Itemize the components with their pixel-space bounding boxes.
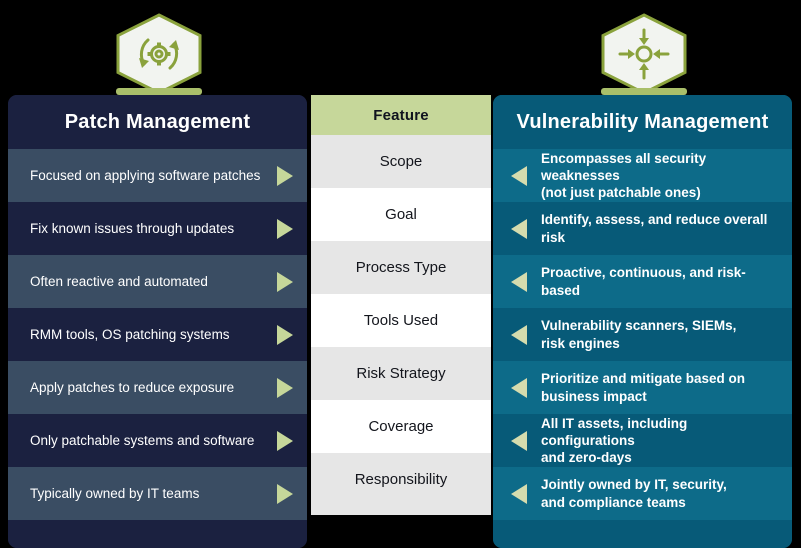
vulnerability-row-text: Vulnerability scanners, SIEMs,risk engin… — [541, 317, 736, 352]
target-arrows-icon — [597, 12, 691, 96]
vulnerability-management-column: Vulnerability Management Encompasses all… — [493, 95, 792, 548]
vulnerability-rows-container: Encompasses all security weaknesses(not … — [493, 149, 792, 520]
feature-row: Process Type — [311, 241, 491, 294]
arrow-left-icon — [511, 484, 527, 504]
feature-row: Responsibility — [311, 453, 491, 506]
arrow-left-icon — [511, 272, 527, 292]
feature-row: Scope — [311, 135, 491, 188]
arrow-left-icon — [511, 378, 527, 398]
feature-row: Coverage — [311, 400, 491, 453]
badge-connector-left — [116, 88, 202, 95]
feature-row: Risk Strategy — [311, 347, 491, 400]
patch-row-text: Often reactive and automated — [30, 273, 218, 291]
feature-row: Goal — [311, 188, 491, 241]
vulnerability-row: Vulnerability scanners, SIEMs,risk engin… — [493, 308, 792, 361]
patch-column-footer — [8, 520, 307, 548]
vulnerability-column-footer — [493, 520, 792, 548]
arrow-left-icon — [511, 431, 527, 451]
vulnerability-row: All IT assets, including configurationsa… — [493, 414, 792, 467]
vulnerability-row-text: Prioritize and mitigate based onbusiness… — [541, 370, 745, 405]
patch-management-column: Patch Management Focused on applying sof… — [8, 95, 307, 548]
feature-header: Feature — [311, 95, 491, 135]
patch-row: Apply patches to reduce exposure — [8, 361, 307, 414]
arrow-right-icon — [277, 325, 293, 345]
vulnerability-row-text: Proactive, continuous, and risk-based — [541, 264, 778, 299]
feature-row-label: Risk Strategy — [356, 365, 445, 382]
feature-row-label: Responsibility — [355, 471, 448, 488]
vulnerability-row: Encompasses all security weaknesses(not … — [493, 149, 792, 202]
arrow-right-icon — [277, 272, 293, 292]
feature-row-label: Scope — [380, 153, 423, 170]
patch-row-text: Apply patches to reduce exposure — [30, 379, 244, 397]
vulnerability-row-text: Identify, assess, and reduce overall ris… — [541, 211, 778, 246]
arrow-left-icon — [511, 166, 527, 186]
vulnerability-row-text: Encompasses all security weaknesses(not … — [541, 150, 778, 202]
patch-row: Typically owned by IT teams — [8, 467, 307, 520]
feature-row: Tools Used — [311, 294, 491, 347]
feature-column-footer — [311, 506, 491, 515]
vulnerability-row: Proactive, continuous, and risk-based — [493, 255, 792, 308]
patch-management-header: Patch Management — [8, 95, 307, 149]
arrow-left-icon — [511, 325, 527, 345]
badge-vulnerability-management — [597, 12, 691, 96]
feature-rows-container: ScopeGoalProcess TypeTools UsedRisk Stra… — [311, 135, 491, 506]
gear-refresh-icon — [112, 12, 206, 96]
patch-rows-container: Focused on applying software patchesFix … — [8, 149, 307, 520]
vulnerability-row: Prioritize and mitigate based onbusiness… — [493, 361, 792, 414]
badge-connector-right — [601, 88, 687, 95]
patch-row-text: Only patchable systems and software — [30, 432, 264, 450]
feature-row-label: Process Type — [356, 259, 447, 276]
infographic-root: Patch Management Focused on applying sof… — [0, 0, 801, 535]
patch-row-text: Focused on applying software patches — [30, 167, 270, 185]
patch-row: Often reactive and automated — [8, 255, 307, 308]
arrow-right-icon — [277, 219, 293, 239]
arrow-right-icon — [277, 378, 293, 398]
feature-row-label: Tools Used — [364, 312, 438, 329]
patch-row: Focused on applying software patches — [8, 149, 307, 202]
patch-row-text: Fix known issues through updates — [30, 220, 244, 238]
patch-row: Only patchable systems and software — [8, 414, 307, 467]
vulnerability-row-text: All IT assets, including configurationsa… — [541, 415, 778, 467]
feature-row-label: Coverage — [368, 418, 433, 435]
patch-row-text: RMM tools, OS patching systems — [30, 326, 240, 344]
vulnerability-row: Identify, assess, and reduce overall ris… — [493, 202, 792, 255]
badge-patch-management — [112, 12, 206, 96]
arrow-left-icon — [511, 219, 527, 239]
feature-column: Feature ScopeGoalProcess TypeTools UsedR… — [311, 95, 491, 515]
arrow-right-icon — [277, 166, 293, 186]
vulnerability-row-text: Jointly owned by IT, security,and compli… — [541, 476, 727, 511]
patch-row-text: Typically owned by IT teams — [30, 485, 209, 503]
vulnerability-management-header: Vulnerability Management — [493, 95, 792, 149]
patch-row: RMM tools, OS patching systems — [8, 308, 307, 361]
feature-row-label: Goal — [385, 206, 417, 223]
arrow-right-icon — [277, 431, 293, 451]
vulnerability-row: Jointly owned by IT, security,and compli… — [493, 467, 792, 520]
patch-row: Fix known issues through updates — [8, 202, 307, 255]
arrow-right-icon — [277, 484, 293, 504]
